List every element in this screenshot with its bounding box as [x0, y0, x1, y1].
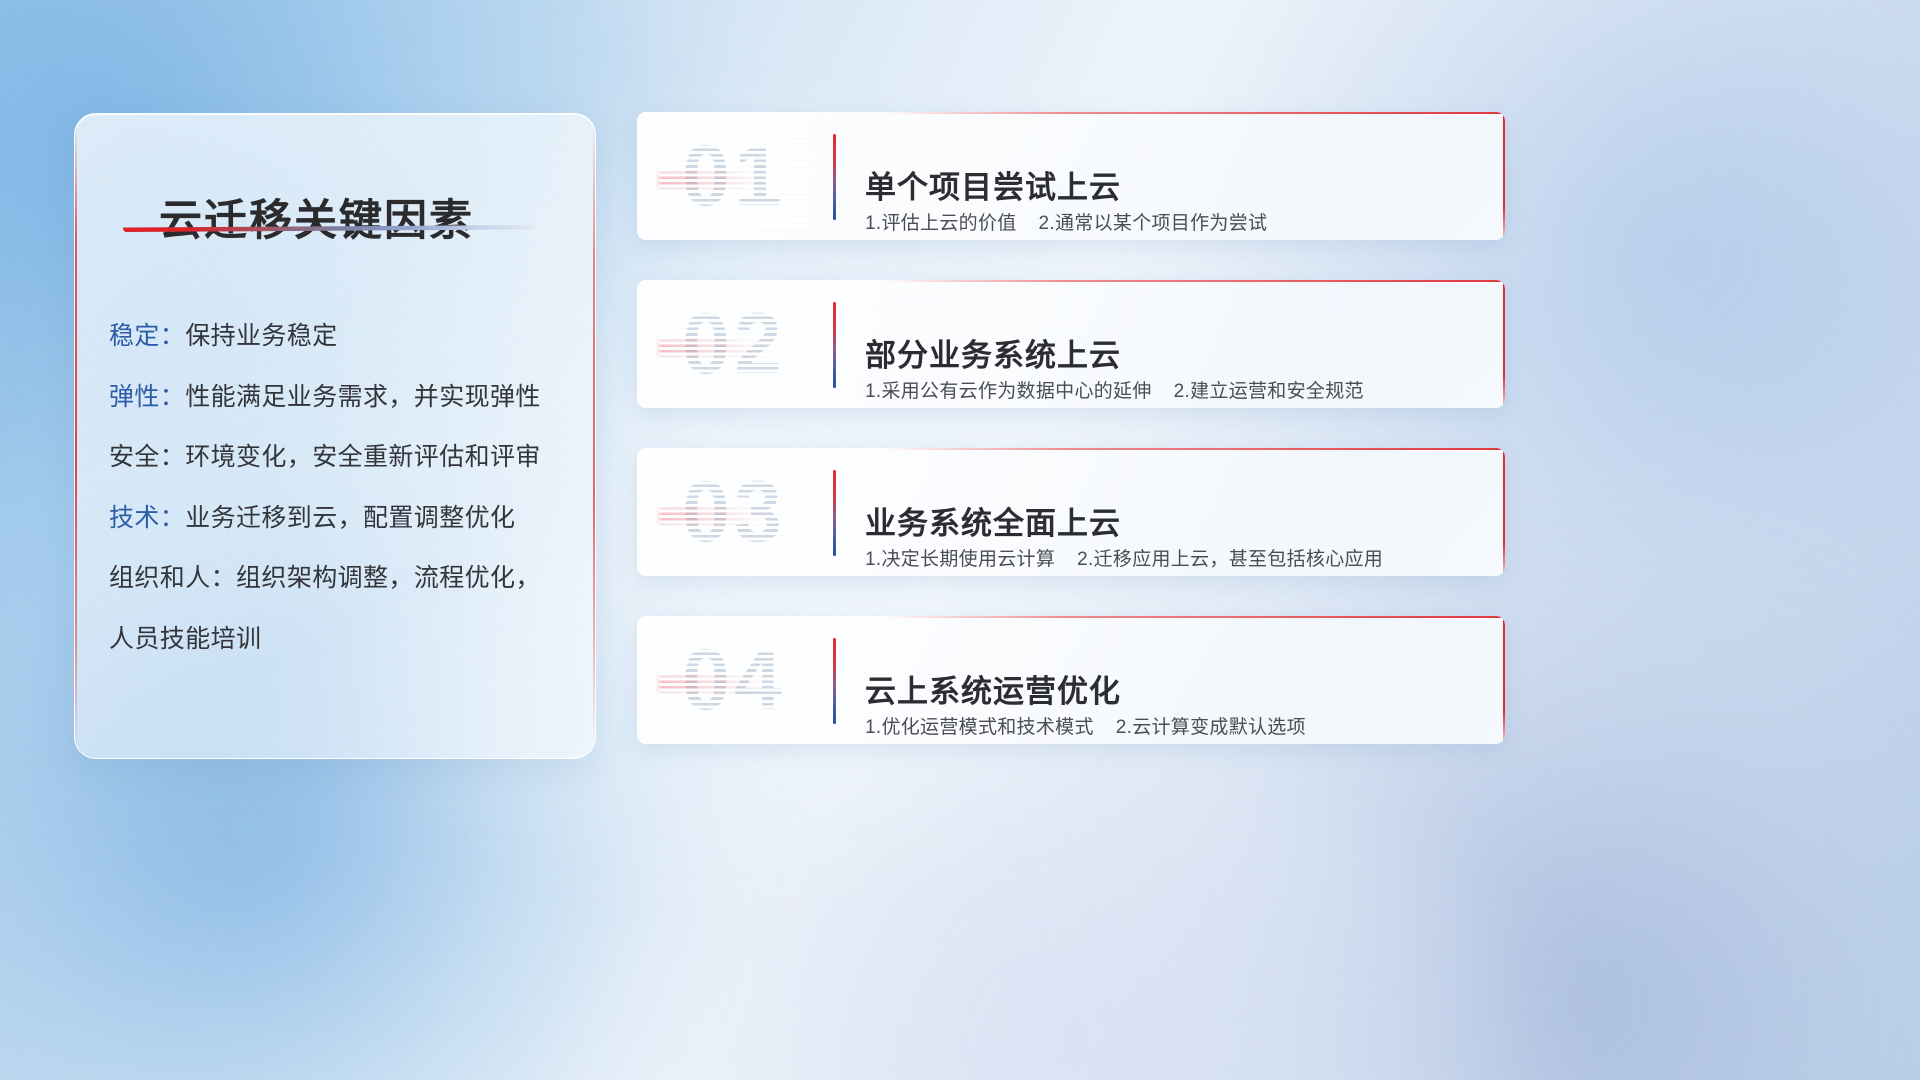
list-item-text: 保持业务稳定	[185, 322, 337, 350]
stage-number-scanline-mask	[659, 627, 809, 733]
list-item: 弹性：性能满足业务需求，并实现弹性	[109, 367, 571, 428]
stage-card[interactable]: 01 单个项目尝试上云 1.评估上云的价值2.通常以某个项目作为尝试	[637, 112, 1505, 240]
list-item: 稳定：保持业务稳定	[109, 306, 571, 367]
stage-point-1: 1.决定长期使用云计算	[865, 549, 1055, 570]
list-item: 安全：环境变化，安全重新评估和评审	[109, 427, 571, 488]
stage-subtitle: 1.评估上云的价值2.通常以某个项目作为尝试	[865, 208, 1267, 235]
card-top-accent-line	[880, 616, 1505, 618]
stage-point-1: 1.优化运营模式和技术模式	[865, 717, 1094, 738]
stage-number-graphic: 02	[659, 291, 809, 397]
card-accent-bar	[833, 638, 836, 724]
list-item-key: 安全：	[109, 443, 185, 471]
stage-point-1: 1.评估上云的价值	[865, 213, 1017, 234]
stage-point-2: 2.迁移应用上云，甚至包括核心应用	[1077, 549, 1383, 570]
list-item: 人员技能培训	[109, 609, 571, 670]
migration-stages: 01 单个项目尝试上云 1.评估上云的价值2.通常以某个项目作为尝试 02 部分…	[637, 112, 1505, 744]
stage-point-2: 2.建立运营和安全规范	[1174, 381, 1364, 402]
list-item: 组织和人：组织架构调整，流程优化，	[109, 548, 571, 609]
stage-title: 业务系统全面上云	[865, 498, 1121, 543]
list-item-key: 组织和人：	[109, 564, 236, 592]
list-item-text: 组织架构调整，流程优化，	[236, 564, 541, 592]
key-factors-panel: 云迁移关键因素 稳定：保持业务稳定 弹性：性能满足业务需求，并实现弹性 安全：环…	[74, 113, 596, 759]
stage-title: 云上系统运营优化	[865, 666, 1121, 711]
list-item-key: 稳定：	[109, 322, 185, 350]
stage-title: 单个项目尝试上云	[865, 162, 1121, 207]
card-right-accent-line	[1503, 448, 1505, 576]
panel-title: 云迁移关键因素	[159, 186, 474, 248]
stage-subtitle: 1.采用公有云作为数据中心的延伸2.建立运营和安全规范	[865, 376, 1364, 403]
card-right-accent-line	[1503, 112, 1505, 240]
stage-point-1: 1.采用公有云作为数据中心的延伸	[865, 381, 1152, 402]
stage-point-2: 2.通常以某个项目作为尝试	[1039, 213, 1268, 234]
list-item-text: 环境变化，安全重新评估和评审	[185, 443, 541, 471]
stage-number-scanline-mask	[659, 123, 809, 229]
stage-number-graphic: 03	[659, 459, 809, 565]
stage-subtitle: 1.决定长期使用云计算2.迁移应用上云，甚至包括核心应用	[865, 544, 1383, 571]
card-top-accent-line	[880, 112, 1505, 114]
stage-number-scanline-mask	[659, 459, 809, 565]
key-factors-list: 稳定：保持业务稳定 弹性：性能满足业务需求，并实现弹性 安全：环境变化，安全重新…	[109, 306, 571, 669]
card-top-accent-line	[880, 280, 1505, 282]
list-item-text: 人员技能培训	[109, 625, 261, 653]
stage-number-scanline-mask	[659, 291, 809, 397]
list-item-text: 业务迁移到云，配置调整优化	[185, 504, 515, 532]
stage-number-graphic: 01	[659, 123, 809, 229]
list-item-text: 性能满足业务需求，并实现弹性	[185, 383, 541, 411]
card-accent-bar	[833, 134, 836, 220]
card-top-accent-line	[880, 448, 1505, 450]
card-right-accent-line	[1503, 280, 1505, 408]
card-accent-bar	[833, 470, 836, 556]
stage-card[interactable]: 02 部分业务系统上云 1.采用公有云作为数据中心的延伸2.建立运营和安全规范	[637, 280, 1505, 408]
stage-subtitle: 1.优化运营模式和技术模式2.云计算变成默认选项	[865, 712, 1306, 739]
stage-card[interactable]: 03 业务系统全面上云 1.决定长期使用云计算2.迁移应用上云，甚至包括核心应用	[637, 448, 1505, 576]
stage-point-2: 2.云计算变成默认选项	[1116, 717, 1306, 738]
stage-title: 部分业务系统上云	[865, 330, 1121, 375]
card-accent-bar	[833, 302, 836, 388]
stage-number-graphic: 04	[659, 627, 809, 733]
stage-card[interactable]: 04 云上系统运营优化 1.优化运营模式和技术模式2.云计算变成默认选项	[637, 616, 1505, 744]
list-item-key: 技术：	[109, 504, 185, 532]
list-item-key: 弹性：	[109, 383, 185, 411]
card-right-accent-line	[1503, 616, 1505, 744]
list-item: 技术：业务迁移到云，配置调整优化	[109, 488, 571, 549]
